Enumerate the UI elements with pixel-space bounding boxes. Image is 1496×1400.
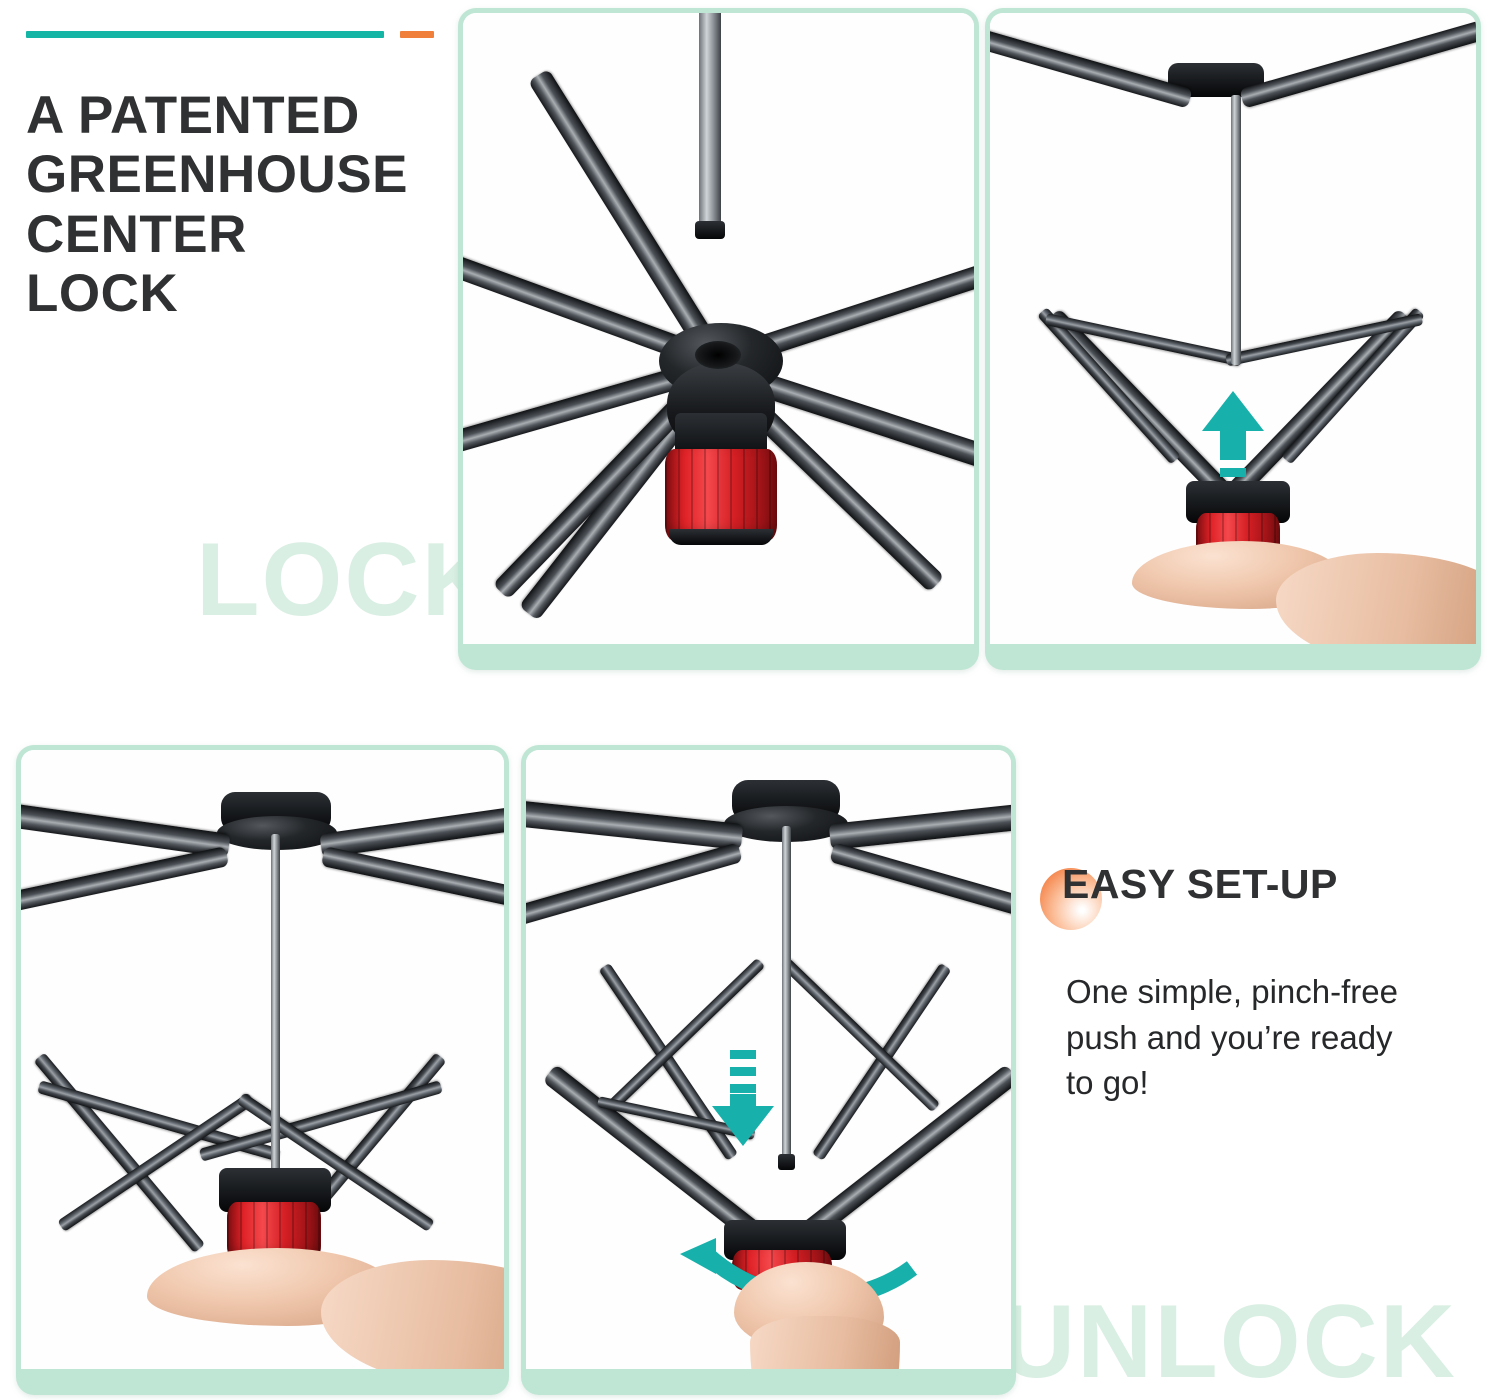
panel-2-stage xyxy=(990,13,1476,644)
frame-pole xyxy=(829,842,1011,930)
hub-socket xyxy=(695,341,741,369)
rod-cap xyxy=(695,221,725,239)
center-rod xyxy=(1231,95,1241,365)
forearm xyxy=(321,1260,504,1369)
headline-block: A PATENTED GREENHOUSE CENTER LOCK xyxy=(26,30,456,323)
photo-panel-twist-to-unlock xyxy=(521,745,1016,1395)
photo-panel-push-up-to-lock xyxy=(985,8,1481,670)
lock-watermark: LOCK xyxy=(196,528,499,632)
forearm xyxy=(750,1316,900,1369)
center-rod xyxy=(782,826,791,1166)
arrow-stem xyxy=(1220,431,1246,451)
page-title: A PATENTED GREENHOUSE CENTER LOCK xyxy=(26,86,456,323)
arrow-head xyxy=(712,1106,774,1146)
frame-pole xyxy=(319,792,504,858)
panel-4-stage xyxy=(526,750,1011,1369)
setup-body-text: One simple, pinch-free push and you’re r… xyxy=(1066,969,1470,1106)
rod-tip xyxy=(778,1154,795,1170)
push-down-arrow-icon xyxy=(712,1050,774,1146)
accent-rule-row xyxy=(26,30,456,38)
arrow-dashed-tail xyxy=(730,1050,756,1094)
panel-3-stage xyxy=(21,750,504,1369)
center-rod xyxy=(271,834,280,1194)
setup-heading: EASY SET-UP xyxy=(1062,862,1470,907)
frame-pole xyxy=(829,793,1011,850)
photo-panel-locked-on-palm xyxy=(16,745,509,1395)
frame-pole xyxy=(1239,15,1476,109)
center-rod xyxy=(699,13,721,231)
frame-pole xyxy=(21,846,229,920)
panel-1-stage xyxy=(463,13,974,644)
easy-setup-block: EASY SET-UP One simple, pinch-free push … xyxy=(1040,862,1470,1106)
frame-pole xyxy=(526,842,743,930)
arrow-head xyxy=(1202,391,1264,431)
forearm xyxy=(1276,553,1476,644)
push-up-arrow-icon xyxy=(1202,391,1264,495)
photo-panel-center-lock-closeup xyxy=(458,8,979,670)
teal-accent-rule xyxy=(26,31,384,38)
red-lock-grip xyxy=(665,449,777,541)
unlock-watermark: UNLOCK xyxy=(1000,1290,1457,1394)
frame-pole xyxy=(21,792,231,858)
frame-pole xyxy=(526,793,743,850)
frame-pole xyxy=(321,846,504,920)
frame-pole xyxy=(990,15,1193,109)
grip-base-cap xyxy=(669,529,773,545)
arrow-stem xyxy=(730,1094,756,1106)
orange-accent-rule xyxy=(400,31,434,38)
